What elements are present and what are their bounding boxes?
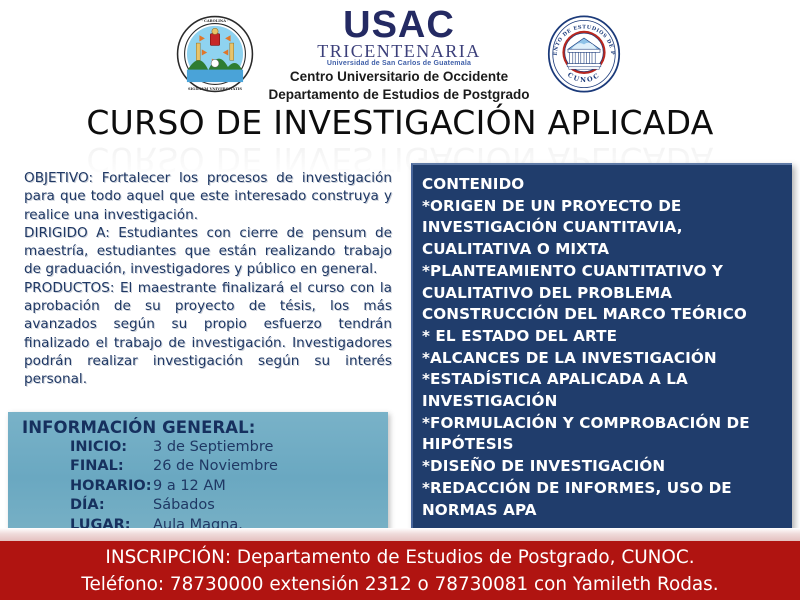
info-value-inicio: 3 de Septiembre <box>153 438 273 457</box>
page-title: CURSO DE INVESTIGACIÓN APLICADA <box>0 103 800 142</box>
info-row: INICIO: 3 de Septiembre <box>8 438 388 457</box>
usac-university-name: Universidad de San Carlos de Guatemala <box>268 60 529 67</box>
productos-text: PRODUCTOS: El maestrante finalizará el c… <box>24 279 392 389</box>
info-row: DÍA: Sábados <box>8 496 388 515</box>
description-block: OBJETIVO: Fortalecer los procesos de inv… <box>24 169 392 389</box>
svg-text:SIGILLVM VNIVERSITATIS: SIGILLVM VNIVERSITATIS <box>188 87 242 91</box>
dirigido-text: DIRIGIDO A: Estudiantes con cierre de pe… <box>24 224 392 279</box>
inscripcion-footer: INSCRIPCIÓN: Departamento de Estudios de… <box>0 541 800 600</box>
info-value-dia: Sábados <box>153 496 215 515</box>
info-row: FINAL: 26 de Noviembre <box>8 457 388 476</box>
info-label-horario: HORARIO: <box>8 477 153 496</box>
contenido-item: *ALCANCES DE LA INVESTIGACIÓN <box>422 348 786 370</box>
usac-seal-icon: · CAROLINA · SIGILLVM VNIVERSITATIS <box>176 15 254 93</box>
footer-accent-strip <box>0 528 800 542</box>
objetivo-text: OBJETIVO: Fortalecer los procesos de inv… <box>24 169 392 224</box>
header: · CAROLINA · SIGILLVM VNIVERSITATIS USAC… <box>0 6 800 102</box>
contenido-item: * EL ESTADO DEL ARTE <box>422 326 786 348</box>
info-label-inicio: INICIO: <box>8 438 153 457</box>
usac-acronym: USAC <box>268 6 529 44</box>
inscripcion-line-2: Teléfono: 78730000 extensión 2312 o 7873… <box>0 571 800 598</box>
contenido-item: *FORMULACIÓN Y COMPROBACIÓN DE HIPÓTESIS <box>422 413 786 456</box>
usac-department-name: Departamento de Estudios de Postgrado <box>268 87 529 102</box>
informacion-general-box: INFORMACIÓN GENERAL: INICIO: 3 de Septie… <box>8 412 388 532</box>
contenido-item: CONSTRUCCIÓN DEL MARCO TEÓRICO <box>422 304 786 326</box>
inscripcion-line-1: INSCRIPCIÓN: Departamento de Estudios de… <box>0 544 800 571</box>
usac-tricentenaria: TRICENTENARIA <box>268 42 529 60</box>
info-value-horario: 9 a 12 AM <box>153 477 226 496</box>
contenido-item: *ESTADÍSTICA APALICADA A LA INVESTIGACIÓ… <box>422 369 786 412</box>
cunoc-postgrado-seal-icon: DEPARTAMENTO DE ESTUDIOS DE POSTGRADO CU… <box>544 14 624 94</box>
info-label-final: FINAL: <box>8 457 153 476</box>
contenido-item: *ORIGEN DE UN PROYECTO DE INVESTIGACIÓN … <box>422 196 786 261</box>
informacion-general-heading: INFORMACIÓN GENERAL: <box>22 418 388 437</box>
contenido-item: *PLANTEAMIENTO CUANTITATIVO Y CUALITATIV… <box>422 261 786 304</box>
contenido-item: *DISEÑO DE INVESTIGACIÓN <box>422 456 786 478</box>
info-label-dia: DÍA: <box>8 496 153 515</box>
contenido-panel: CONTENIDO *ORIGEN DE UN PROYECTO DE INVE… <box>411 163 792 531</box>
contenido-item: *REDACCIÓN DE INFORMES, USO DE NORMAS AP… <box>422 478 786 521</box>
contenido-heading: CONTENIDO <box>422 174 786 196</box>
svg-text:· CAROLINA ·: · CAROLINA · <box>202 19 229 23</box>
usac-center-name: Centro Universitario de Occidente <box>268 69 529 84</box>
poster-root: · CAROLINA · SIGILLVM VNIVERSITATIS USAC… <box>0 0 800 600</box>
usac-wordmark: USAC TRICENTENARIA Universidad de San Ca… <box>264 6 533 101</box>
info-row: HORARIO: 9 a 12 AM <box>8 477 388 496</box>
info-value-final: 26 de Noviembre <box>153 457 278 476</box>
